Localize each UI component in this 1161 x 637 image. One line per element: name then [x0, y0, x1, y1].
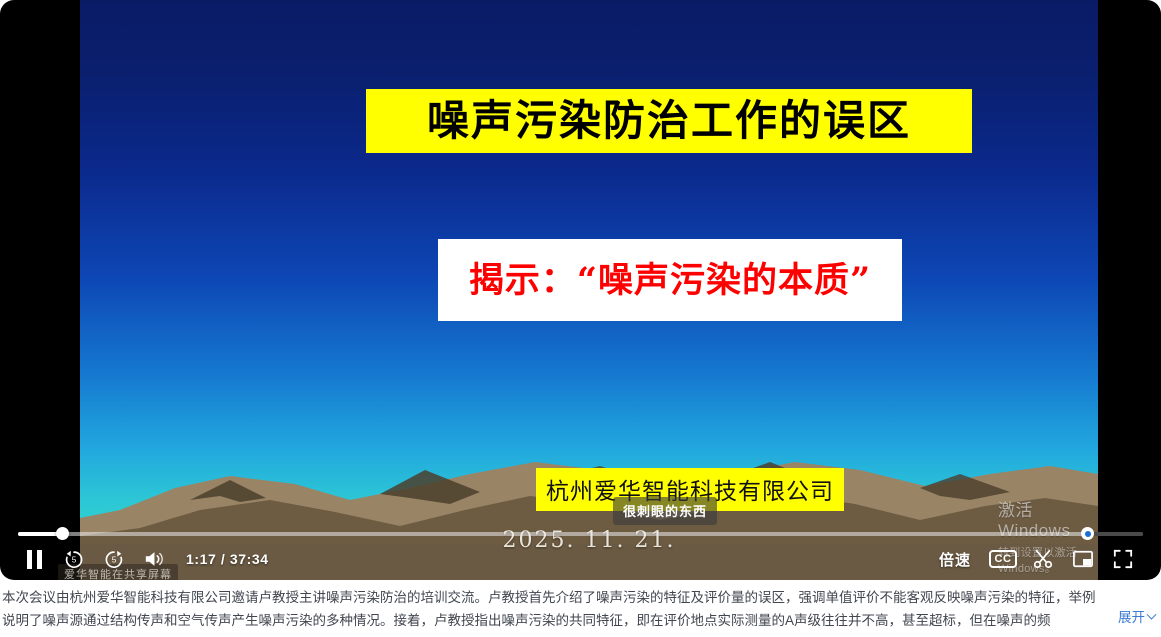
expand-label: 展开 [1118, 606, 1145, 629]
player-controls: 5 5 1:17 / 37:34 [0, 538, 1161, 580]
slide-subtitle: 揭示：“噪声污染的本质” [469, 263, 871, 298]
pause-icon [26, 550, 43, 569]
video-description: 本次会议由杭州爱华智能科技有限公司邀请卢教授主讲噪声污染防治的培训交流。卢教授首… [0, 580, 1161, 637]
volume-button[interactable] [134, 539, 174, 579]
svg-text:5: 5 [72, 556, 77, 565]
slide-title-banner: 噪声污染防治工作的误区 [366, 89, 972, 153]
progress-bar[interactable] [18, 531, 1143, 536]
captions-button[interactable]: CC [983, 539, 1023, 579]
slide-subtitle-banner: 揭示：“噪声污染的本质” [438, 239, 902, 321]
scissors-icon [1032, 548, 1054, 570]
fullscreen-button[interactable] [1103, 539, 1143, 579]
overlay-chip-label: 很刺眼的东西 [613, 497, 717, 525]
volume-slider[interactable] [1081, 529, 1143, 538]
volume-icon [143, 549, 165, 569]
slide-title: 噪声污染防治工作的误区 [427, 100, 911, 142]
miniplayer-button[interactable] [1063, 539, 1103, 579]
cc-icon: CC [989, 550, 1018, 568]
controls-left-group: 5 5 1:17 / 37:34 [0, 538, 269, 580]
playback-speed-button[interactable]: 倍速 [927, 549, 983, 570]
description-line-1: 本次会议由杭州爱华智能科技有限公司邀请卢教授主讲噪声污染防治的培训交流。卢教授首… [0, 586, 1161, 609]
fullscreen-icon [1113, 549, 1133, 569]
progress-track[interactable] [18, 532, 1143, 536]
chevron-down-icon [1147, 610, 1157, 620]
controls-right-group: 倍速 CC [927, 538, 1161, 580]
video-canvas[interactable]: 噪声污染防治工作的误区 揭示：“噪声污染的本质” 杭州爱华智能科技有限公司 很刺… [80, 0, 1098, 580]
rewind-5-icon: 5 [63, 548, 85, 570]
rewind-5-button[interactable]: 5 [54, 539, 94, 579]
description-line-2: 说明了噪声源通过结构传声和空气传声产生噪声污染的多种情况。接着，卢教授指出噪声污… [0, 609, 1161, 632]
pause-button[interactable] [14, 539, 54, 579]
video-player[interactable]: 噪声污染防治工作的误区 揭示：“噪声污染的本质” 杭州爱华智能科技有限公司 很刺… [0, 0, 1161, 580]
expand-description-button[interactable]: 展开 [1088, 606, 1155, 629]
forward-5-button[interactable]: 5 [94, 539, 134, 579]
svg-text:5: 5 [112, 556, 117, 565]
clip-button[interactable] [1023, 539, 1063, 579]
timecode-display: 1:17 / 37:34 [186, 551, 269, 567]
miniplayer-icon [1072, 549, 1094, 569]
forward-5-icon: 5 [103, 548, 125, 570]
